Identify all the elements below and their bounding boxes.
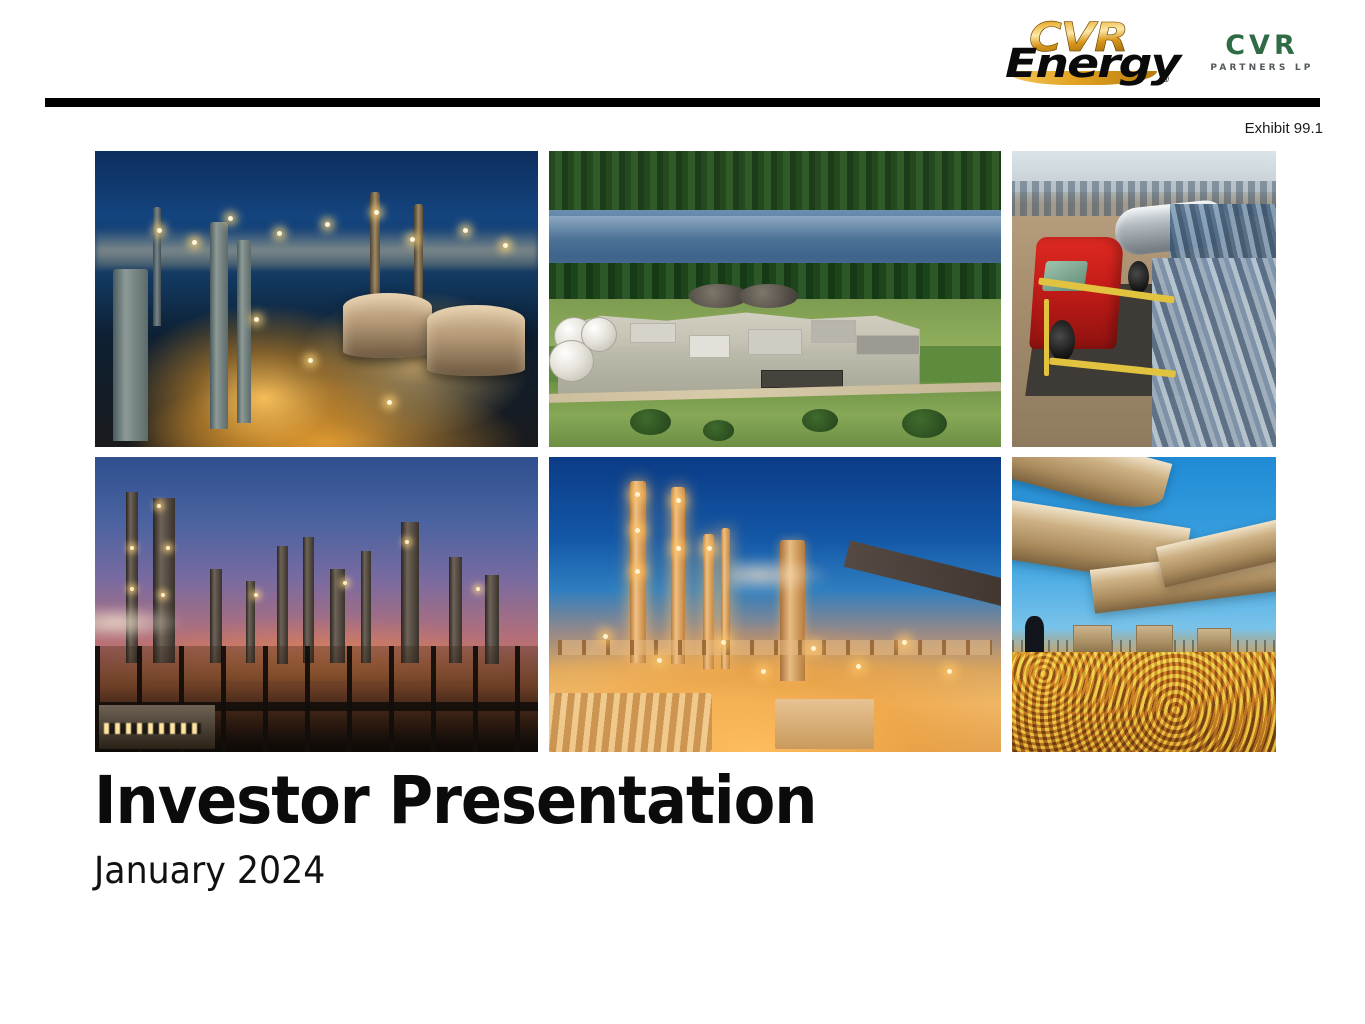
light-point [902, 640, 907, 645]
plant-building [689, 335, 730, 359]
light-point [503, 243, 508, 248]
light-point [476, 587, 480, 591]
storage-silo [581, 317, 617, 353]
plant-building [630, 323, 675, 344]
photo-refinery-dusk [95, 457, 538, 752]
cvr-partners-logo: CVR PARTNERS LP [1187, 14, 1323, 92]
photo-refinery-night [95, 151, 538, 447]
steam-plume [730, 557, 829, 592]
column [401, 522, 420, 664]
registered-trademark-icon: ® [1162, 74, 1169, 84]
cvr-partners-wordmark: CVR PARTNERS LP [1209, 32, 1315, 73]
distillation-column [210, 222, 228, 429]
photo-aerial-fertilizer-plant [549, 151, 1001, 447]
photo-tanker-truck [1012, 151, 1276, 447]
light-point [635, 528, 640, 533]
storage-tank [427, 305, 524, 376]
far-treeline [549, 151, 1001, 216]
light-point [676, 498, 681, 503]
pipe-rack [558, 640, 992, 655]
light-point [228, 216, 233, 221]
light-point [463, 228, 468, 233]
plant-building [748, 329, 802, 356]
plant-building [811, 320, 856, 344]
tree [902, 409, 947, 439]
presentation-slide: CVR Energy ® CVR PARTNERS LP Exhibit 99.… [0, 0, 1365, 1024]
logo-bar: CVR Energy ® CVR PARTNERS LP [1005, 14, 1323, 92]
cvr-energy-logo: CVR Energy ® [1005, 16, 1169, 90]
light-point [254, 593, 258, 597]
pipe-bank [549, 693, 712, 752]
photo-pipelines [1012, 457, 1276, 752]
light-point [676, 546, 681, 551]
light-point [405, 540, 409, 544]
building-windows [104, 723, 201, 735]
cvr-energy-wordmark-bottom: Energy [1005, 44, 1179, 84]
safety-rail [1044, 299, 1049, 376]
river-sheen [549, 216, 1001, 240]
cvr-partners-wordmark-bottom: PARTNERS LP [1209, 64, 1315, 73]
page-subtitle: January 2024 [94, 851, 832, 892]
light-point [166, 546, 170, 550]
stack [414, 204, 423, 299]
photo-refinery-twilight [549, 457, 1001, 752]
light-point [811, 646, 816, 651]
light-point [410, 237, 415, 242]
light-point [343, 581, 347, 585]
pipe-bank-lower [1152, 258, 1276, 447]
plant-building [856, 335, 919, 356]
distillation-column [113, 269, 148, 441]
light-point [635, 569, 640, 574]
stack [370, 192, 381, 299]
steam-plume [95, 605, 184, 640]
light-point [707, 546, 712, 551]
plant-building [775, 699, 874, 749]
title-block: Investor Presentation January 2024 [94, 766, 879, 892]
light-point [856, 664, 861, 669]
exhibit-label: Exhibit 99.1 [1245, 120, 1323, 137]
light-point [325, 222, 330, 227]
light-point [277, 231, 282, 236]
header-divider-rule [45, 98, 1320, 107]
column [303, 537, 314, 664]
gravel-foreground [1012, 652, 1276, 752]
storage-tank [343, 293, 432, 358]
photo-grid [95, 151, 1267, 752]
distillation-column [237, 240, 251, 424]
light-point [157, 228, 162, 233]
cvr-partners-wordmark-top: CVR [1209, 32, 1315, 59]
tree [630, 409, 671, 436]
settling-pond [739, 284, 798, 308]
light-point [308, 358, 313, 363]
page-title: Investor Presentation [94, 766, 816, 835]
light-point [721, 640, 726, 645]
tree [802, 409, 838, 433]
stack [153, 207, 162, 325]
plant-building [761, 370, 842, 388]
distillation-column [671, 487, 685, 664]
